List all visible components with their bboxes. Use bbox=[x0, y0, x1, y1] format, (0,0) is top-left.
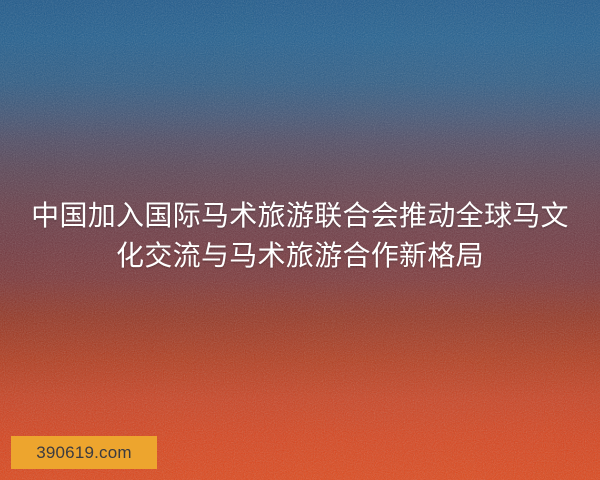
watermark-label: 390619.com bbox=[36, 444, 132, 461]
banner-headline: 中国加入国际马术旅游联合会推动全球马文化交流与马术旅游合作新格局 bbox=[0, 196, 600, 276]
watermark-badge: 390619.com bbox=[11, 436, 157, 469]
article-banner-image: 中国加入国际马术旅游联合会推动全球马文化交流与马术旅游合作新格局 390619.… bbox=[0, 0, 600, 480]
